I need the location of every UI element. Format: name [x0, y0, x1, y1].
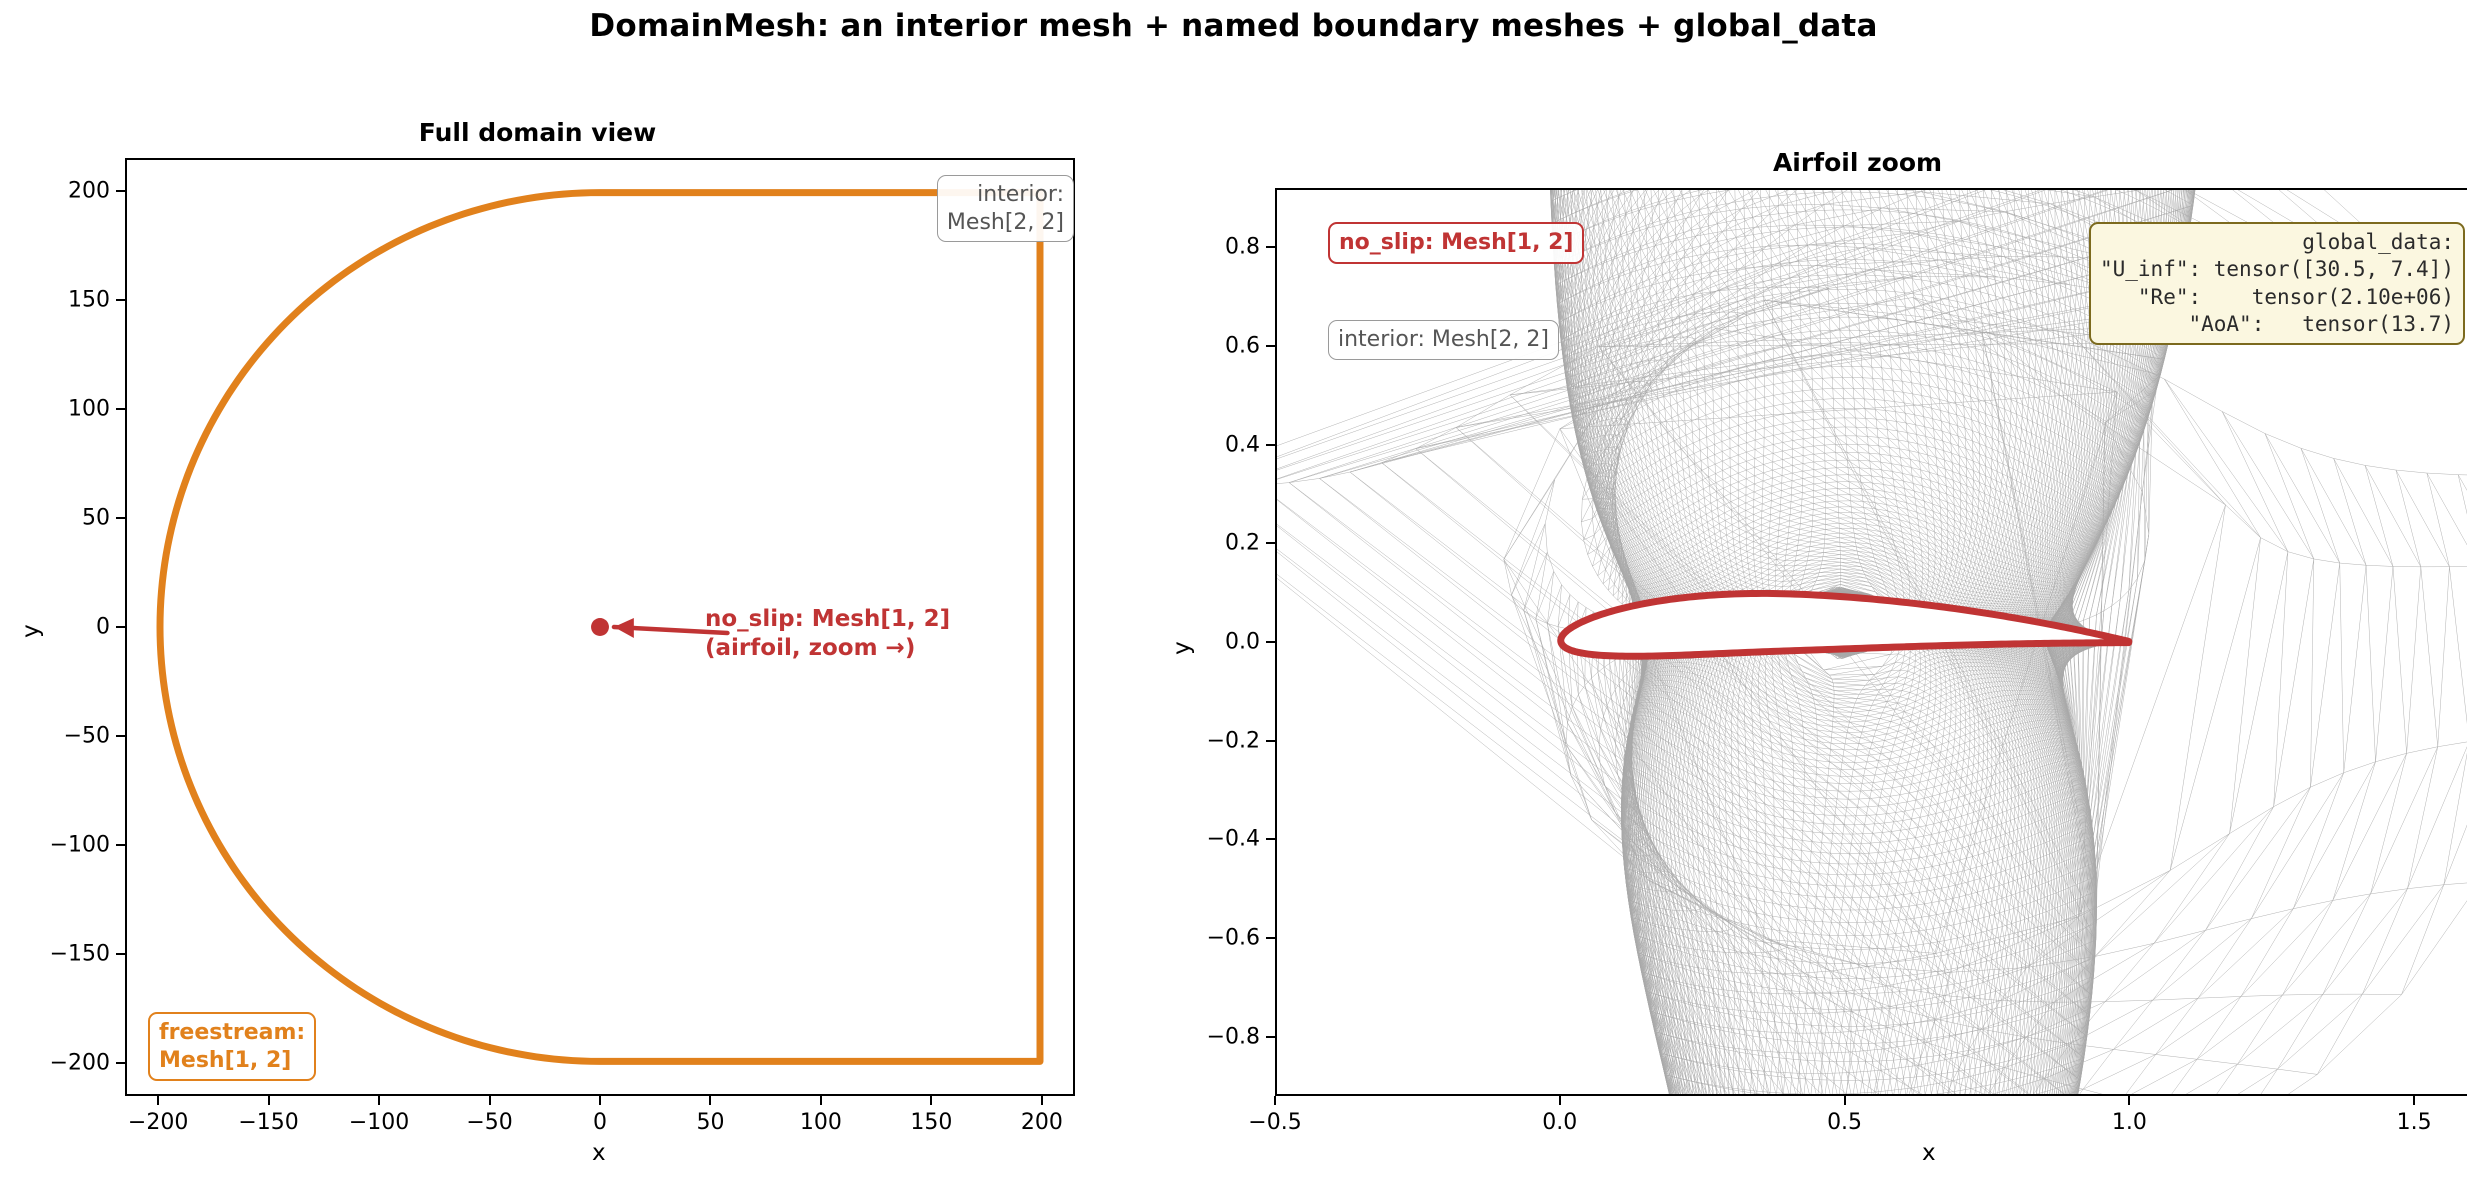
- y-tick-mark: [1266, 246, 1275, 248]
- y-tick-label: −0.6: [1155, 926, 1260, 951]
- x-tick-mark: [1274, 1096, 1276, 1105]
- x-tick-mark: [709, 1096, 711, 1105]
- y-tick-mark: [1266, 838, 1275, 840]
- y-tick-label: 100: [5, 396, 110, 421]
- x-tick-mark: [2413, 1096, 2415, 1105]
- y-tick-mark: [116, 953, 125, 955]
- x-tick-mark: [157, 1096, 159, 1105]
- right-ylabel: y: [1169, 641, 1195, 655]
- left-annotation-no-slip: no_slip: Mesh[1, 2] (airfoil, zoom →): [705, 605, 950, 663]
- figure-canvas: DomainMesh: an interior mesh + named bou…: [0, 0, 2467, 1200]
- y-tick-mark: [116, 408, 125, 410]
- y-tick-label: −0.2: [1155, 728, 1260, 753]
- y-tick-label: 0.8: [1155, 235, 1260, 260]
- x-tick-mark: [268, 1096, 270, 1105]
- right-xlabel: x: [1922, 1140, 1936, 1166]
- y-tick-label: 50: [5, 505, 110, 530]
- x-tick-label: −150: [238, 1110, 298, 1135]
- right-panel-title: Airfoil zoom: [1275, 148, 2440, 177]
- left-ylabel: y: [18, 624, 44, 638]
- y-tick-mark: [116, 190, 125, 192]
- x-tick-label: −200: [128, 1110, 188, 1135]
- y-tick-label: −100: [5, 833, 110, 858]
- no-slip-marker-dot: [591, 618, 609, 636]
- x-tick-label: −50: [466, 1110, 512, 1135]
- y-tick-mark: [1266, 641, 1275, 643]
- x-tick-mark: [599, 1096, 601, 1105]
- x-tick-mark: [930, 1096, 932, 1105]
- panel-full-domain: Full domain view −200−150−100−5005010015…: [0, 0, 1120, 1200]
- x-tick-label: 1.5: [2397, 1110, 2432, 1135]
- left-annotation-freestream: freestream: Mesh[1, 2]: [148, 1012, 316, 1081]
- x-tick-label: −100: [349, 1110, 409, 1135]
- x-tick-mark: [1559, 1096, 1561, 1105]
- y-tick-label: 0.6: [1155, 333, 1260, 358]
- left-annotation-interior: interior: Mesh[2, 2]: [937, 175, 1074, 242]
- y-tick-mark: [1266, 1036, 1275, 1038]
- panel-airfoil-zoom: Airfoil zoom −0.50.00.51.01.50.80.60.40.…: [1120, 0, 2467, 1200]
- x-tick-mark: [1041, 1096, 1043, 1105]
- no-slip-annotation-arrow-head: [614, 618, 634, 638]
- x-tick-label: 100: [800, 1110, 842, 1135]
- x-tick-label: 0.5: [1827, 1110, 1862, 1135]
- y-tick-mark: [116, 299, 125, 301]
- x-tick-label: 150: [910, 1110, 952, 1135]
- left-panel-title: Full domain view: [0, 118, 1075, 147]
- y-tick-mark: [1266, 542, 1275, 544]
- x-tick-mark: [820, 1096, 822, 1105]
- y-tick-label: −0.4: [1155, 827, 1260, 852]
- x-tick-mark: [489, 1096, 491, 1105]
- left-xlabel: x: [592, 1140, 606, 1166]
- y-tick-mark: [116, 517, 125, 519]
- x-tick-label: 0: [593, 1110, 607, 1135]
- y-tick-label: −50: [5, 724, 110, 749]
- right-annotation-interior: interior: Mesh[2, 2]: [1328, 320, 1559, 360]
- y-tick-label: 150: [5, 287, 110, 312]
- x-tick-label: 0.0: [1542, 1110, 1577, 1135]
- y-tick-mark: [1266, 345, 1275, 347]
- x-tick-mark: [378, 1096, 380, 1105]
- x-tick-label: 200: [1021, 1110, 1063, 1135]
- x-tick-mark: [1844, 1096, 1846, 1105]
- y-tick-mark: [116, 844, 125, 846]
- y-tick-label: 0.2: [1155, 531, 1260, 556]
- y-tick-mark: [1266, 937, 1275, 939]
- right-annotation-no-slip: no_slip: Mesh[1, 2]: [1328, 222, 1584, 264]
- y-tick-label: −150: [5, 942, 110, 967]
- y-tick-label: −0.8: [1155, 1024, 1260, 1049]
- y-tick-mark: [1266, 740, 1275, 742]
- y-tick-label: −200: [5, 1051, 110, 1076]
- x-tick-label: 50: [696, 1110, 724, 1135]
- y-tick-mark: [116, 735, 125, 737]
- x-tick-label: −0.5: [1248, 1110, 1301, 1135]
- x-tick-label: 1.0: [2112, 1110, 2147, 1135]
- y-tick-mark: [116, 1062, 125, 1064]
- right-annotation-global-data: global_data: "U_inf": tensor([30.5, 7.4]…: [2089, 222, 2465, 345]
- y-tick-mark: [116, 626, 125, 628]
- y-tick-label: 200: [5, 178, 110, 203]
- y-tick-mark: [1266, 444, 1275, 446]
- y-tick-label: 0.4: [1155, 432, 1260, 457]
- x-tick-mark: [2128, 1096, 2130, 1105]
